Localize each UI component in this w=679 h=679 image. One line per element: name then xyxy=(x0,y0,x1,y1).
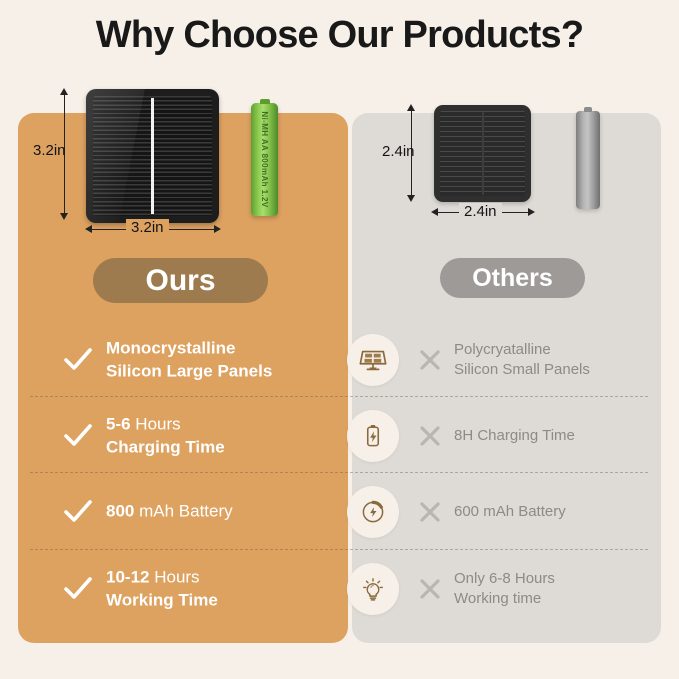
ours-feature-line1: mAh Battery xyxy=(134,502,232,521)
check-icon xyxy=(64,347,92,373)
check-icon xyxy=(64,499,92,525)
others-height-label: 2.4in xyxy=(382,143,415,160)
ours-feature-text: 5-6 Hours Charging Time xyxy=(106,413,225,458)
others-feature-line2: Silicon Small Panels xyxy=(454,360,590,380)
comparison-row: 10-12 Hours Working Time Only 6-8 Hours … xyxy=(18,551,661,627)
others-height-arrow-up xyxy=(407,104,415,111)
others-feature-line1: 600 mAh Battery xyxy=(454,502,566,522)
ours-feature-line1: Monocrystalline xyxy=(106,338,235,357)
others-battery-image xyxy=(576,111,600,209)
ours-feature-line1: Hours xyxy=(131,414,181,433)
others-solar-busbar xyxy=(482,112,484,195)
power-ring-icon xyxy=(347,486,399,538)
others-feature-text: Only 6-8 Hours Working time xyxy=(454,569,555,610)
others-feature-text: 600 mAh Battery xyxy=(454,502,566,522)
ours-feature-text: 800 mAh Battery xyxy=(106,501,233,524)
infographic-root: Why Choose Our Products? Ni-MH AA 800mAh… xyxy=(0,0,679,679)
cross-icon xyxy=(418,500,442,524)
ours-feature-text: Monocrystalline Silicon Large Panels xyxy=(106,337,272,382)
ours-battery-image: Ni-MH AA 800mAh 1.2V xyxy=(251,103,278,216)
others-badge-label: Others xyxy=(472,264,553,293)
comparison-row: 800 mAh Battery 600 mAh Battery xyxy=(18,474,661,550)
others-feature-text: 8H Charging Time xyxy=(454,426,575,446)
ours-feature-value: 10-12 xyxy=(106,567,149,586)
ours-feature-line2: Silicon Large Panels xyxy=(106,361,272,380)
ours-badge-pill: Ours xyxy=(93,258,268,303)
others-width-arrow-left xyxy=(431,208,438,216)
check-icon xyxy=(64,423,92,449)
cross-icon xyxy=(418,348,442,372)
ours-feature-value: 800 xyxy=(106,502,134,521)
ours-solar-panel-image xyxy=(86,89,219,223)
others-feature-line1: 8H Charging Time xyxy=(454,426,575,446)
solar-panel-icon xyxy=(347,334,399,386)
ours-solar-busbar xyxy=(151,98,154,214)
ours-badge-label: Ours xyxy=(145,264,215,298)
ours-height-arrow-up xyxy=(60,88,68,95)
row-divider xyxy=(30,549,648,550)
ours-feature-line2: Working Time xyxy=(106,590,218,609)
others-badge-pill: Others xyxy=(440,258,585,298)
ours-feature-value: 5-6 xyxy=(106,414,131,433)
others-feature-text: Polycryatalline Silicon Small Panels xyxy=(454,340,590,381)
ours-feature-text: 10-12 Hours Working Time xyxy=(106,566,218,611)
ours-width-arrow-right xyxy=(214,225,221,233)
others-feature-line1: Polycryatalline xyxy=(454,340,590,360)
check-icon xyxy=(64,576,92,602)
ours-feature-line1: Hours xyxy=(149,567,199,586)
comparison-row: Monocrystalline Silicon Large Panels Pol… xyxy=(18,322,661,398)
others-feature-line2: Working time xyxy=(454,589,555,609)
ours-height-arrow-down xyxy=(60,213,68,220)
others-feature-line1: Only 6-8 Hours xyxy=(454,569,555,589)
ours-battery-label: Ni-MH AA 800mAh 1.2V xyxy=(251,103,278,216)
ours-height-label: 3.2in xyxy=(33,142,66,159)
comparison-row: 5-6 Hours Charging Time 8H Charging Time xyxy=(18,398,661,474)
cross-icon xyxy=(418,577,442,601)
battery-charging-icon xyxy=(347,410,399,462)
others-width-arrow-right xyxy=(528,208,535,216)
row-divider xyxy=(30,472,648,473)
battery-terminal xyxy=(584,107,592,112)
others-height-arrow-down xyxy=(407,195,415,202)
row-divider xyxy=(30,396,648,397)
cross-icon xyxy=(418,424,442,448)
others-width-label: 2.4in xyxy=(459,203,502,220)
ours-width-label: 3.2in xyxy=(126,219,169,236)
others-solar-panel-image xyxy=(434,105,531,202)
lightbulb-icon xyxy=(347,563,399,615)
page-title: Why Choose Our Products? xyxy=(0,14,679,57)
ours-width-arrow-left xyxy=(85,225,92,233)
ours-feature-line2: Charging Time xyxy=(106,437,225,456)
